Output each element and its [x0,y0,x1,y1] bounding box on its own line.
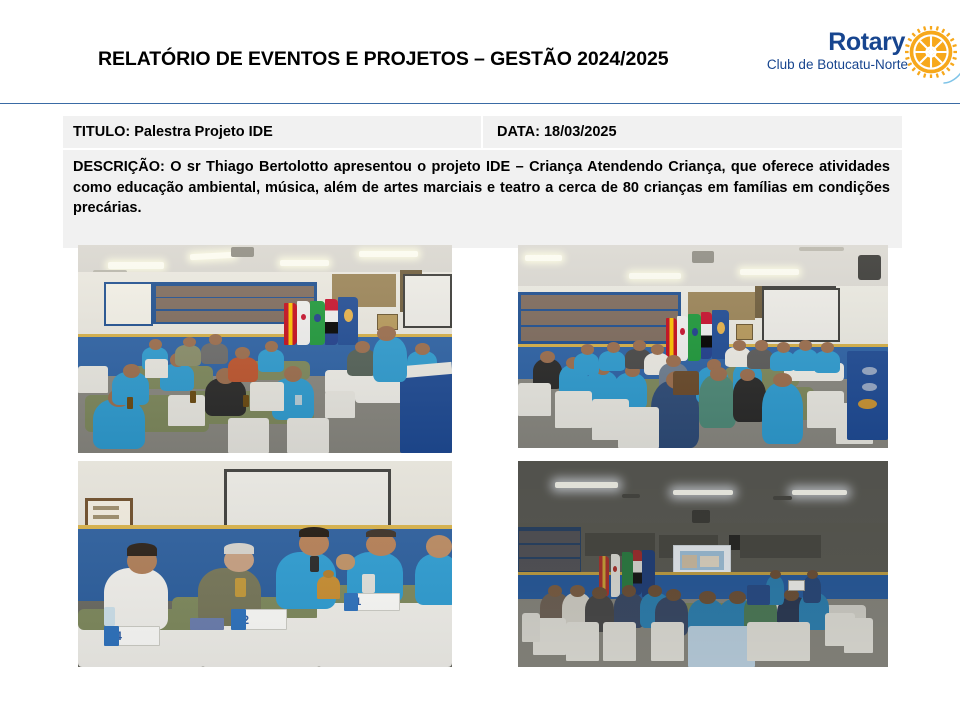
event-photo-top-left [78,245,452,453]
table-row: TITULO: Palestra Projeto IDE DATA: 18/03… [63,116,902,150]
header-divider [0,103,960,104]
event-description: DESCRIÇÃO: O sr Thiago Bertolotto aprese… [73,157,890,239]
table-row-description: DESCRIÇÃO: O sr Thiago Bertolotto aprese… [63,150,902,250]
photo-scene [518,245,888,448]
event-photo-top-right [518,245,888,448]
rotary-wordmark: Rotary [828,28,905,57]
event-photo-bottom-right [518,461,888,667]
event-date-cell: DATA: 18/03/2025 [483,116,902,148]
rotary-swoosh-icon [943,70,960,84]
event-info-table: TITULO: Palestra Projeto IDE DATA: 18/03… [63,116,902,250]
photo-scene: 4 2 1 [78,461,452,667]
rotary-logo: Rotary Club de Botucatu-Norte [782,26,957,88]
rotary-club-name: Club de Botucatu-Norte [767,57,908,72]
event-photo-bottom-left: 4 2 1 [78,461,452,667]
page-title: RELATÓRIO DE EVENTOS E PROJETOS – GESTÃO… [98,48,798,71]
photo-scene [518,461,888,667]
photo-scene [78,245,452,453]
event-title-cell: TITULO: Palestra Projeto IDE [63,116,483,148]
